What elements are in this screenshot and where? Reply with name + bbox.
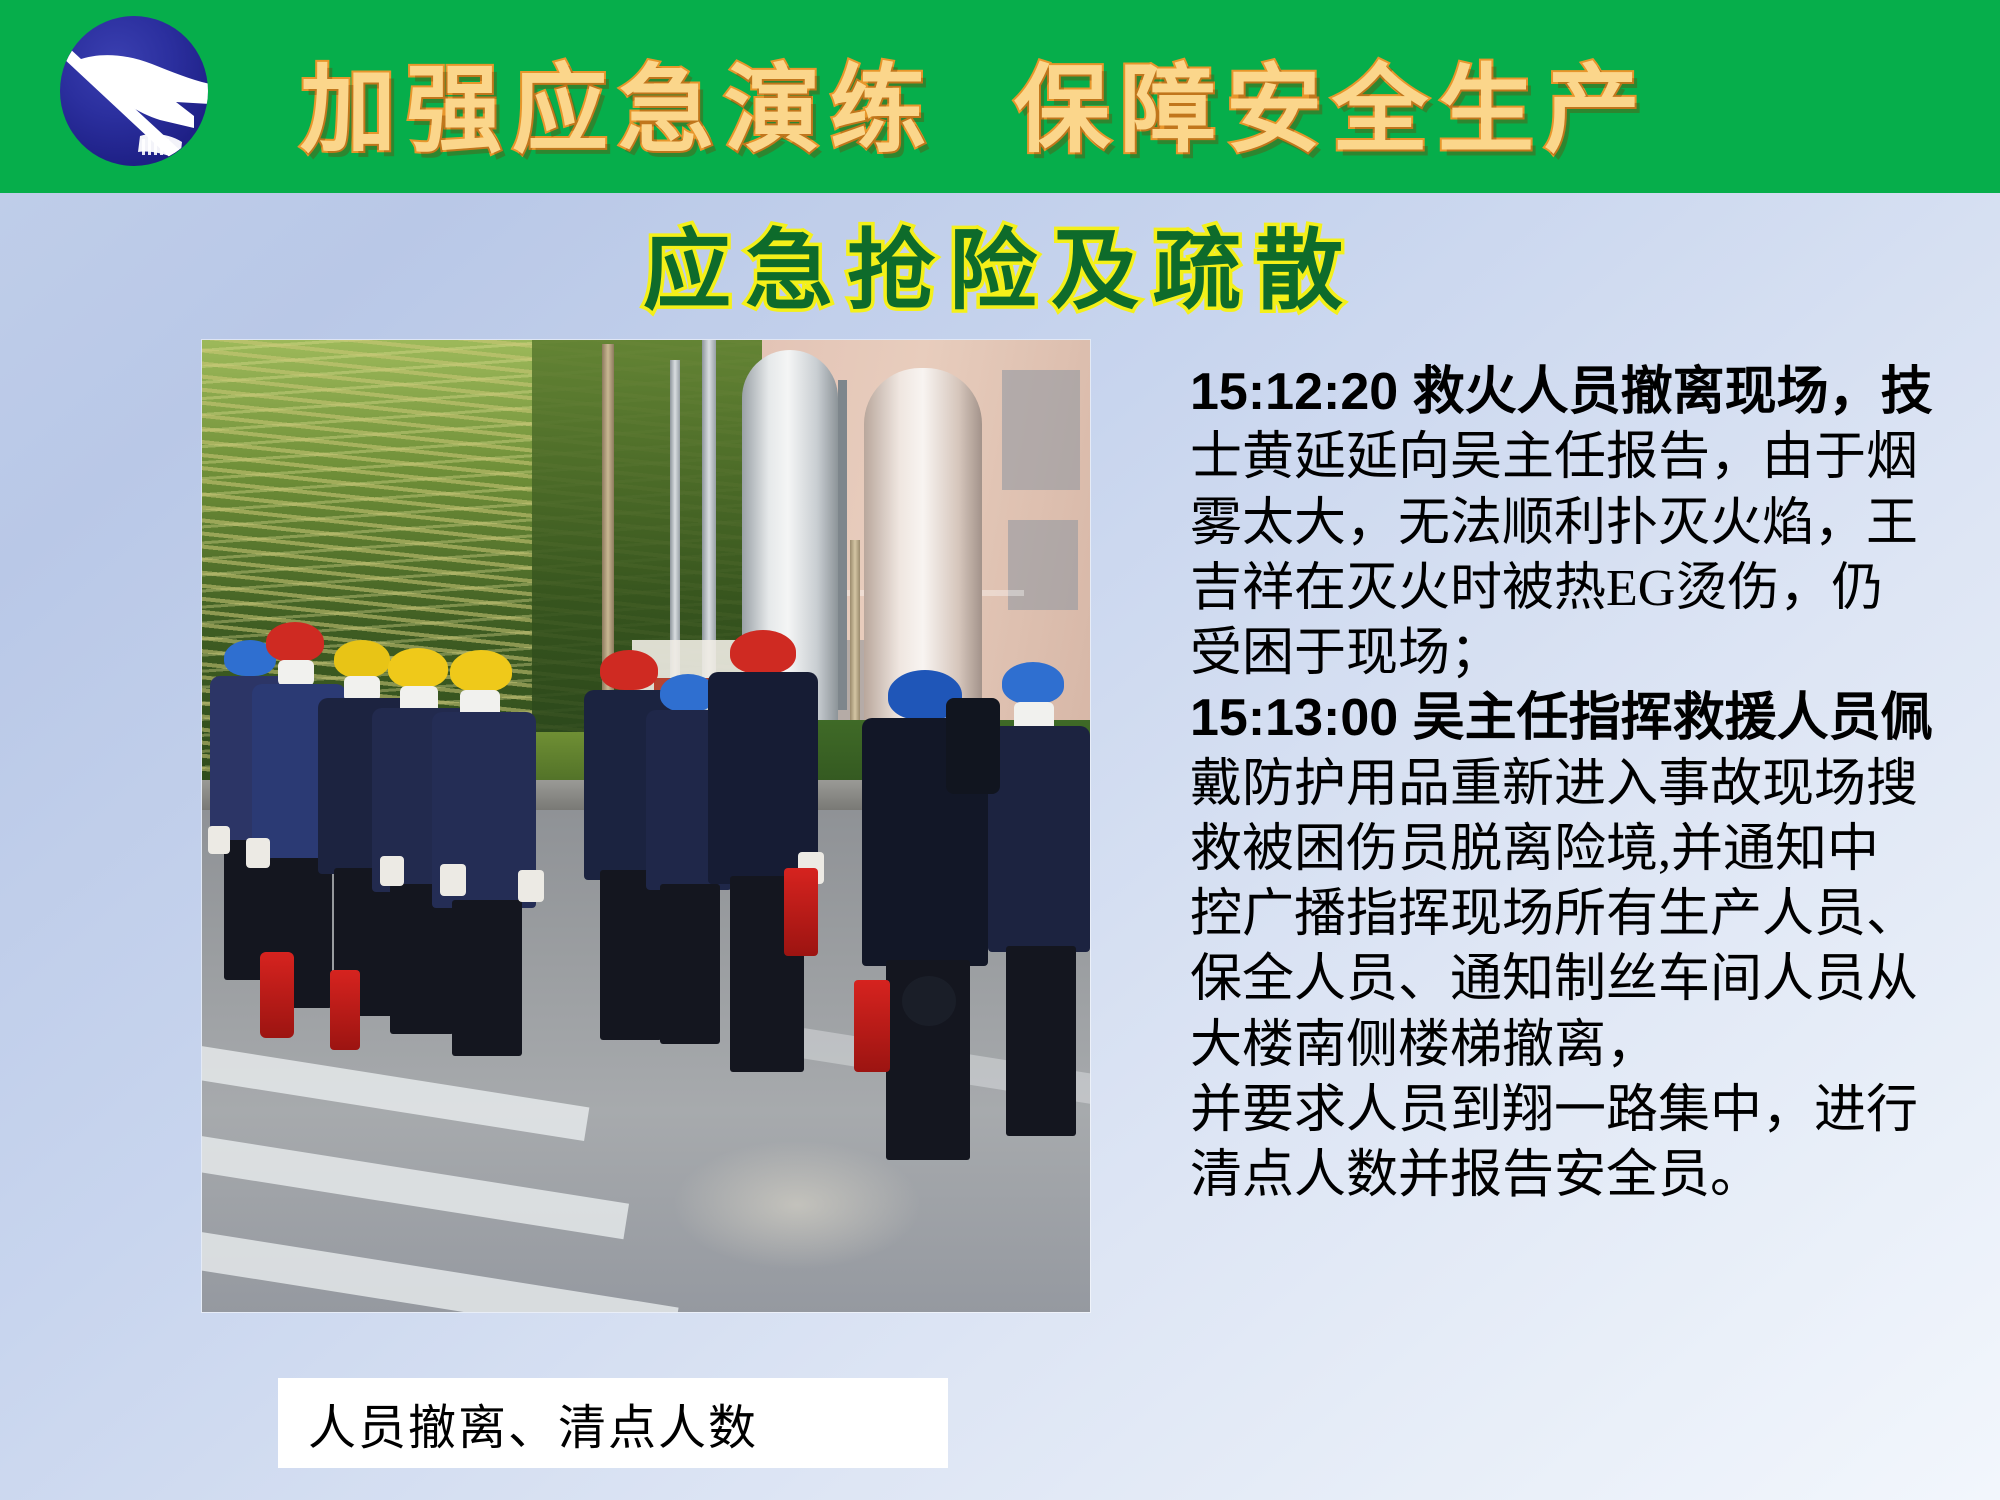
body-line: 吉祥在灭火时被热EG烫伤，仍 — [1190, 556, 1980, 621]
company-logo — [48, 8, 218, 180]
body-line: 救被困伤员脱离险境,并通知中 — [1190, 817, 1980, 882]
body-line: 大楼南侧楼梯撤离， — [1190, 1013, 1980, 1078]
body-line: 15:12:20 救火人员撤离现场，技 — [1190, 360, 1980, 425]
slide-root: 加强应急演练 保障安全生产 应急抢险及疏散 — [0, 0, 2000, 1500]
photo-canvas — [202, 340, 1090, 1312]
photo-pipe — [838, 380, 847, 710]
photo-helmet-carried — [902, 976, 956, 1026]
photo-building-window — [1002, 370, 1080, 490]
body-line: 保全人员、通知制丝车间人员从 — [1190, 947, 1980, 1012]
body-line: 士黄延延向吴主任报告，由于烟 — [1190, 425, 1980, 490]
emergency-evacuation-photo — [202, 340, 1090, 1312]
body-line: 15:13:00 吴主任指挥救援人员佩 — [1190, 686, 1980, 751]
body-line: 控广播指挥现场所有生产人员、 — [1190, 882, 1980, 947]
body-line: 并要求人员到翔一路集中，进行 — [1190, 1078, 1980, 1143]
banner-slogan-right: 保障安全生产 — [1014, 32, 1650, 171]
body-text-block: 15:12:20 救火人员撤离现场，技 士黄延延向吴主任报告，由于烟 雾太大，无… — [1190, 360, 1980, 1208]
header-banner: 加强应急演练 保障安全生产 — [0, 0, 2000, 193]
body-line: 清点人数并报告安全员。 — [1190, 1143, 1980, 1208]
body-line: 戴防护用品重新进入事故现场搜 — [1190, 752, 1980, 817]
body-line: 雾太大，无法顺利扑灭火焰，王 — [1190, 491, 1980, 556]
photo-caption: 人员撤离、清点人数 — [278, 1378, 948, 1468]
photo-lens-flare — [672, 1140, 922, 1270]
timestamp-2: 15:13:00 吴主任指挥救援人员佩 — [1190, 689, 1933, 747]
banner-slogan-left: 加强应急演练 — [300, 32, 936, 171]
photo-air-tank — [946, 698, 1000, 794]
eagle-logo-icon — [48, 8, 218, 180]
page-title: 应急抢险及疏散 — [0, 200, 2000, 327]
body-line: 受困于现场； — [1190, 621, 1980, 686]
banner-slogan: 加强应急演练 保障安全生产 — [300, 26, 1950, 176]
timestamp-1: 15:12:20 救火人员撤离现场，技 — [1190, 363, 1933, 421]
photo-building-window — [1008, 520, 1078, 610]
